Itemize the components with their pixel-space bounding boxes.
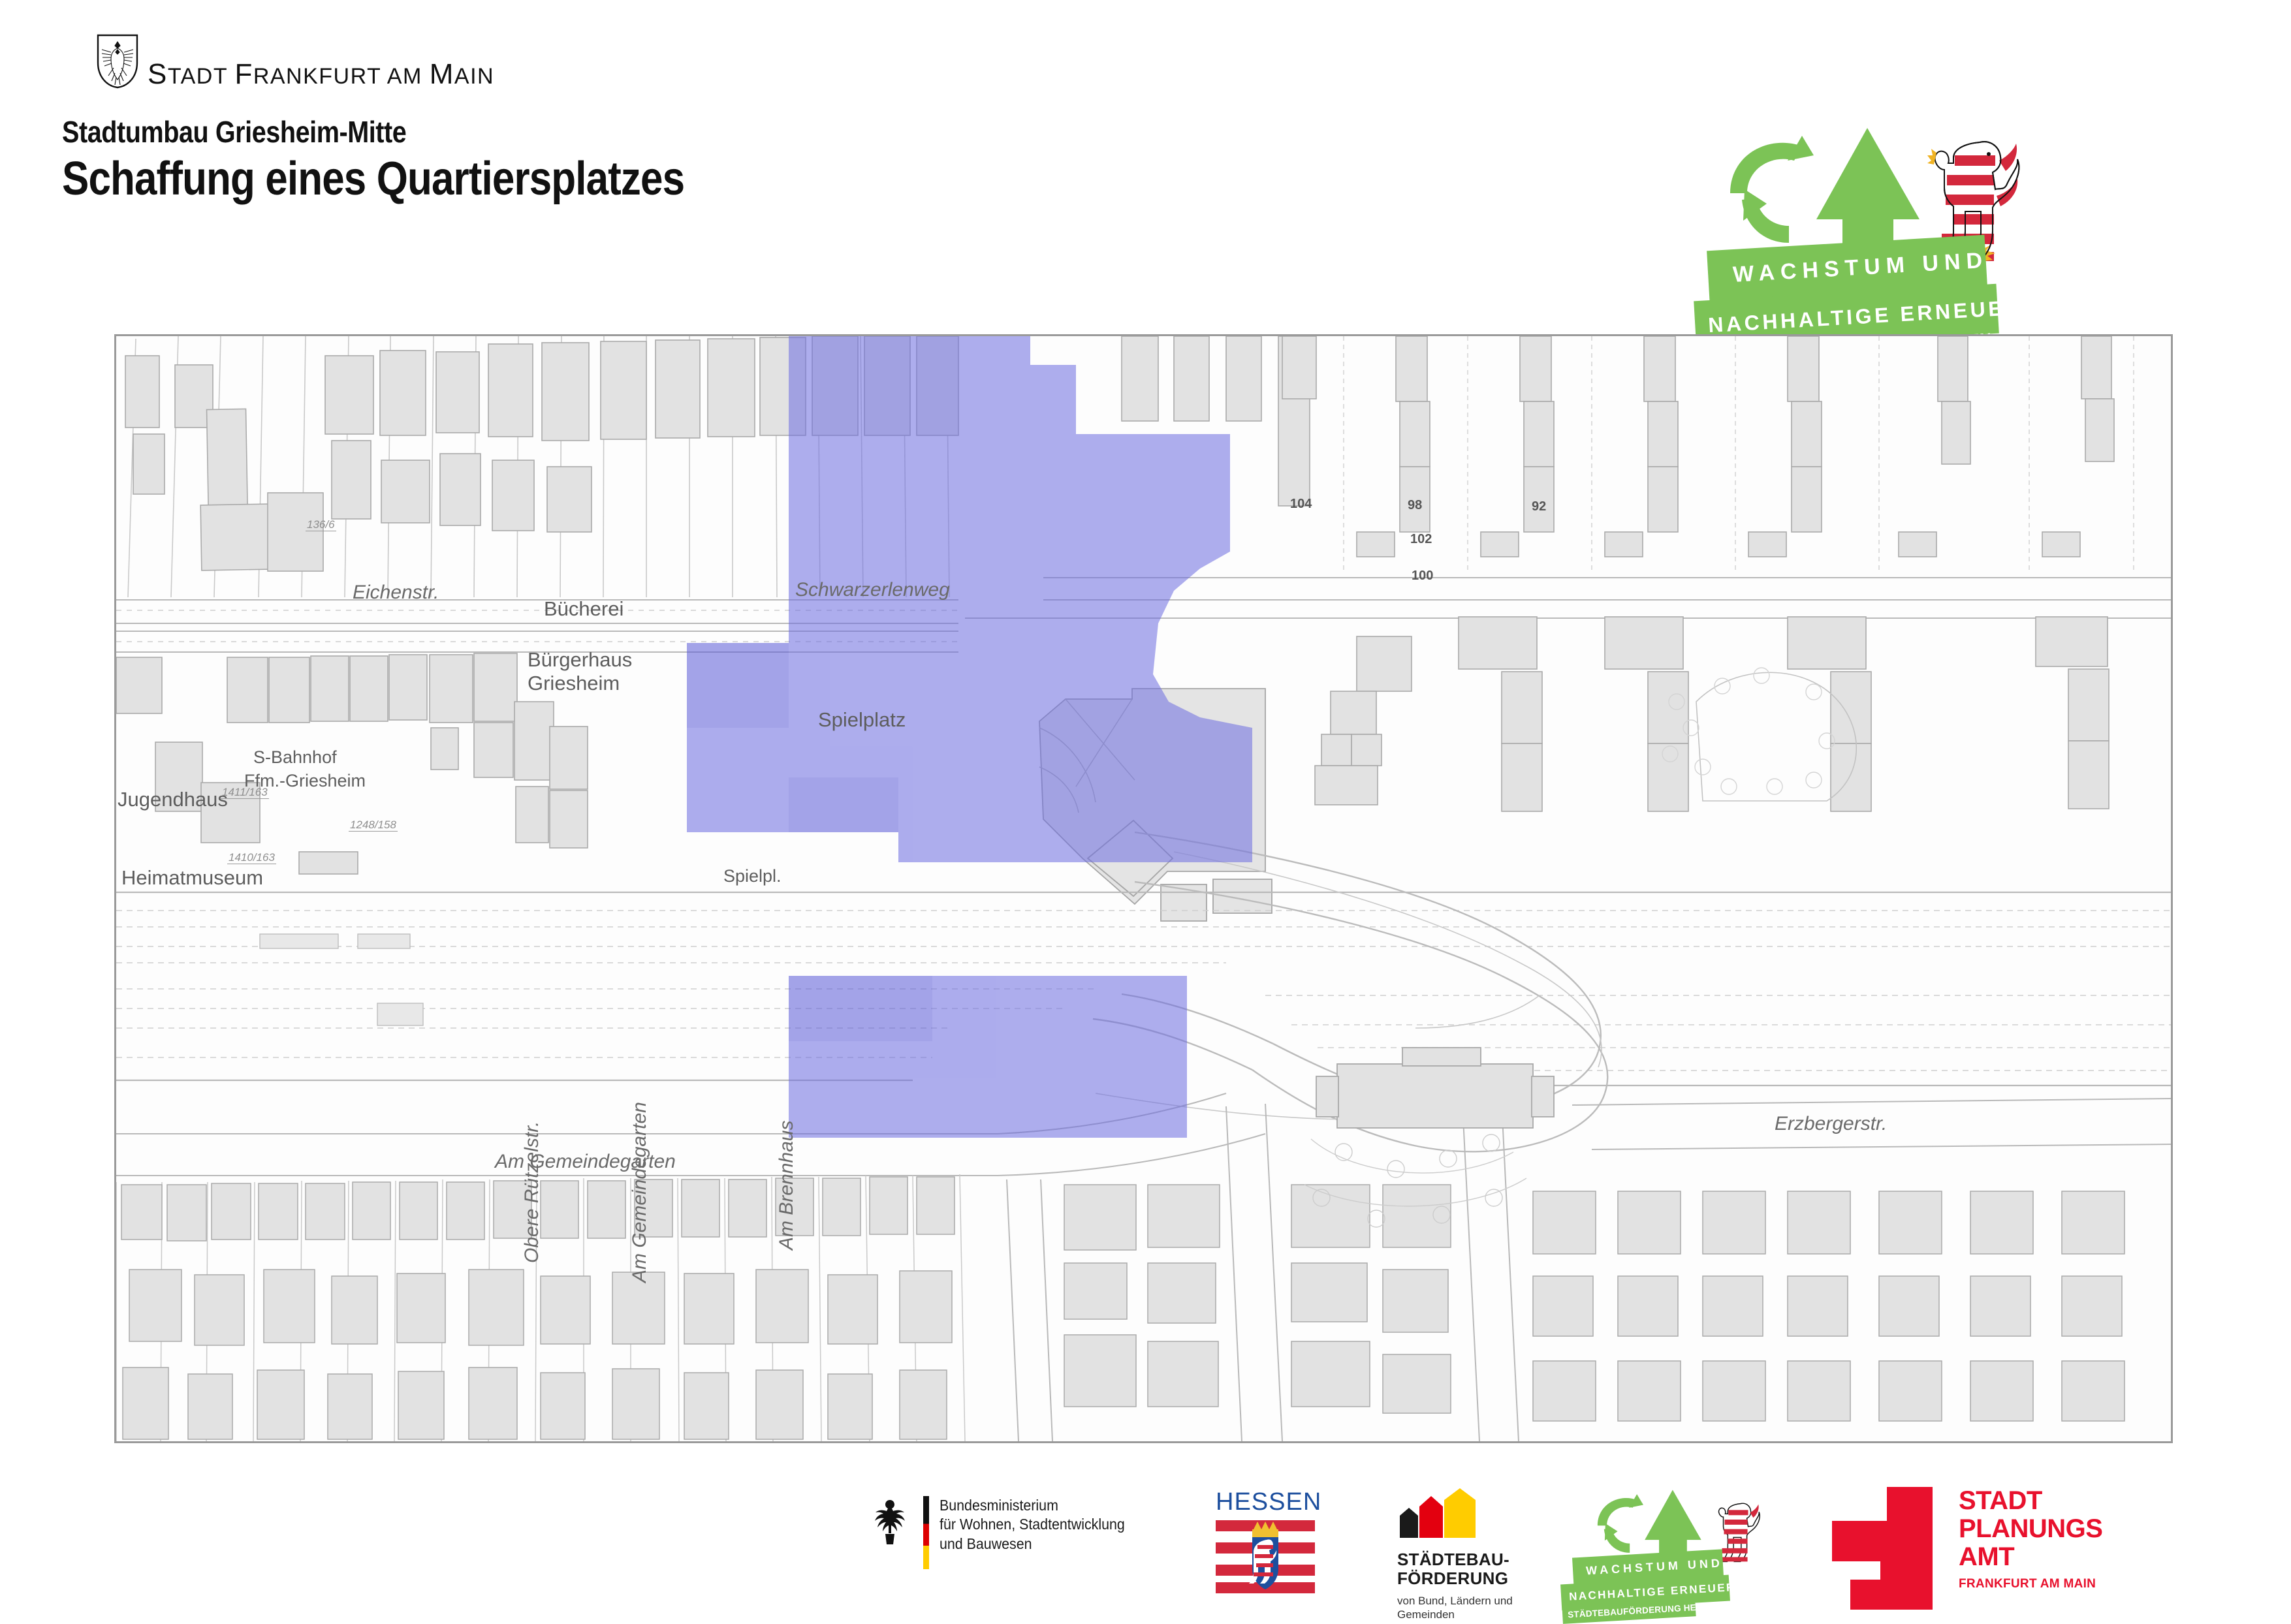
- cadastral-map[interactable]: Eichenstr. Schwarzerlenweg Erzbergerstr.…: [114, 334, 2173, 1443]
- three-houses-icon: [1397, 1488, 1481, 1538]
- city-wordmark: STADT FRANKFURT AM MAIN: [148, 60, 494, 89]
- frankfurt-eagle-crest-icon: [97, 34, 138, 89]
- hessen-wordmark: HESSEN: [1216, 1488, 1321, 1516]
- spa-block-mark-icon: [1832, 1487, 1933, 1610]
- stadtplanungsamt-logo: STADT PLANUNGS AMT FRANKFURT AM MAIN: [1832, 1487, 2102, 1610]
- german-flag-bar: [923, 1496, 929, 1569]
- title-block: Stadtumbau Griesheim-Mitte Schaffung ein…: [62, 116, 785, 205]
- bundesadler-icon: [868, 1496, 911, 1547]
- spa-wordmark: STADT PLANUNGS AMT: [1959, 1487, 2102, 1570]
- hessen-flag-crest-icon: [1216, 1520, 1315, 1593]
- spa-subline: FRANKFURT AM MAIN: [1959, 1577, 2102, 1591]
- map-vector-layer: [116, 336, 2171, 1441]
- hessen-logo: HESSEN: [1216, 1488, 1321, 1597]
- bmwsb-logo: Bundesministerium für Wohnen, Stadtentwi…: [868, 1496, 1139, 1569]
- page-subtitle: Stadtumbau Griesheim-Mitte: [62, 116, 684, 148]
- staedtebau-subtitle: von Bund, Ländern und Gemeinden: [1397, 1594, 1513, 1622]
- city-logo: STADT FRANKFURT AM MAIN: [97, 34, 494, 89]
- footer-logo-bar: Bundesministerium für Wohnen, Stadtentwi…: [0, 1476, 2291, 1607]
- bmwsb-text: Bundesministerium für Wohnen, Stadtentwi…: [940, 1496, 1125, 1569]
- staedtebau-title: STÄDTEBAU- FÖRDERUNG: [1397, 1550, 1513, 1588]
- wachstum-footer-logo: WACHSTUM UND NACHHALTIGE ERNEUERUNG STÄD…: [1557, 1486, 1773, 1603]
- page-title: Schaffung eines Quartiersplatzes: [62, 154, 684, 205]
- staedtebaufoerderung-logo: STÄDTEBAU- FÖRDERUNG von Bund, Ländern u…: [1397, 1488, 1513, 1622]
- wachstum-und-nachhaltige-erneuerung-logo: WACHSTUM UND NACHHALTIGE ERNEUERUNG STÄD…: [1704, 121, 2109, 343]
